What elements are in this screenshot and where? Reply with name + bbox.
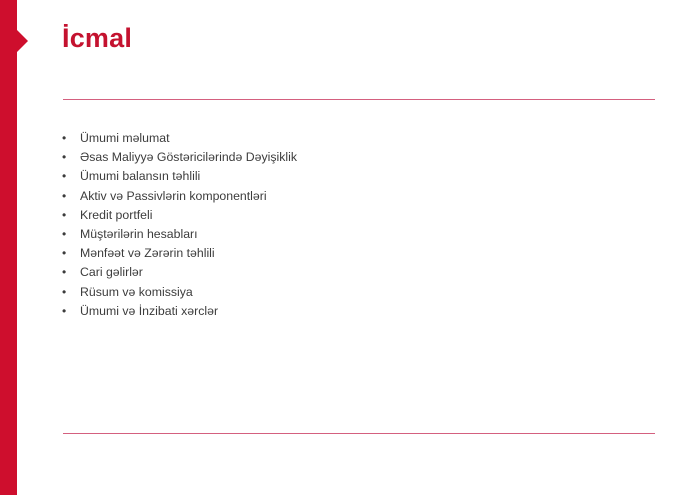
divider-bottom xyxy=(63,433,655,434)
bullet-icon: • xyxy=(62,244,80,263)
list-item: • Müştərilərin hesabları xyxy=(62,225,642,244)
list-item: • Ümumi balansın təhlili xyxy=(62,167,642,186)
list-item: • Cari gəlirlər xyxy=(62,263,642,282)
list-item-label: Kredit portfeli xyxy=(80,206,642,225)
bullet-icon: • xyxy=(62,302,80,321)
list-item: • Ümumi məlumat xyxy=(62,129,642,148)
bullet-icon: • xyxy=(62,263,80,282)
list-item-label: Müştərilərin hesabları xyxy=(80,225,642,244)
list-item-label: Mənfəət və Zərərin təhlili xyxy=(80,244,642,263)
bullet-icon: • xyxy=(62,187,80,206)
page-title: İcmal xyxy=(62,24,132,54)
list-item-label: Ümumi məlumat xyxy=(80,129,642,148)
bullet-icon: • xyxy=(62,148,80,167)
bullet-icon: • xyxy=(62,206,80,225)
agenda-list: • Ümumi məlumat • Əsas Maliyyə Göstərici… xyxy=(62,129,642,321)
list-item: • Rüsum və komissiya xyxy=(62,283,642,302)
list-item: • Kredit portfeli xyxy=(62,206,642,225)
bullet-icon: • xyxy=(62,225,80,244)
list-item-label: Ümumi balansın təhlili xyxy=(80,167,642,186)
list-item-label: Rüsum və komissiya xyxy=(80,283,642,302)
left-accent-bar xyxy=(0,0,17,495)
list-item: • Mənfəət və Zərərin təhlili xyxy=(62,244,642,263)
divider-top xyxy=(63,99,655,100)
list-item-label: Ümumi və İnzibati xərclər xyxy=(80,302,642,321)
list-item: • Aktiv və Passivlərin komponentləri xyxy=(62,187,642,206)
bullet-icon: • xyxy=(62,283,80,302)
chevron-right-icon xyxy=(17,30,28,52)
list-item-label: Aktiv və Passivlərin komponentləri xyxy=(80,187,642,206)
list-item: • Ümumi və İnzibati xərclər xyxy=(62,302,642,321)
list-item: • Əsas Maliyyə Göstəricilərində Dəyişikl… xyxy=(62,148,642,167)
list-item-label: Cari gəlirlər xyxy=(80,263,642,282)
list-item-label: Əsas Maliyyə Göstəricilərində Dəyişiklik xyxy=(80,148,642,167)
bullet-icon: • xyxy=(62,167,80,186)
bullet-icon: • xyxy=(62,129,80,148)
slide-canvas: İcmal • Ümumi məlumat • Əsas Maliyyə Gös… xyxy=(0,0,700,495)
